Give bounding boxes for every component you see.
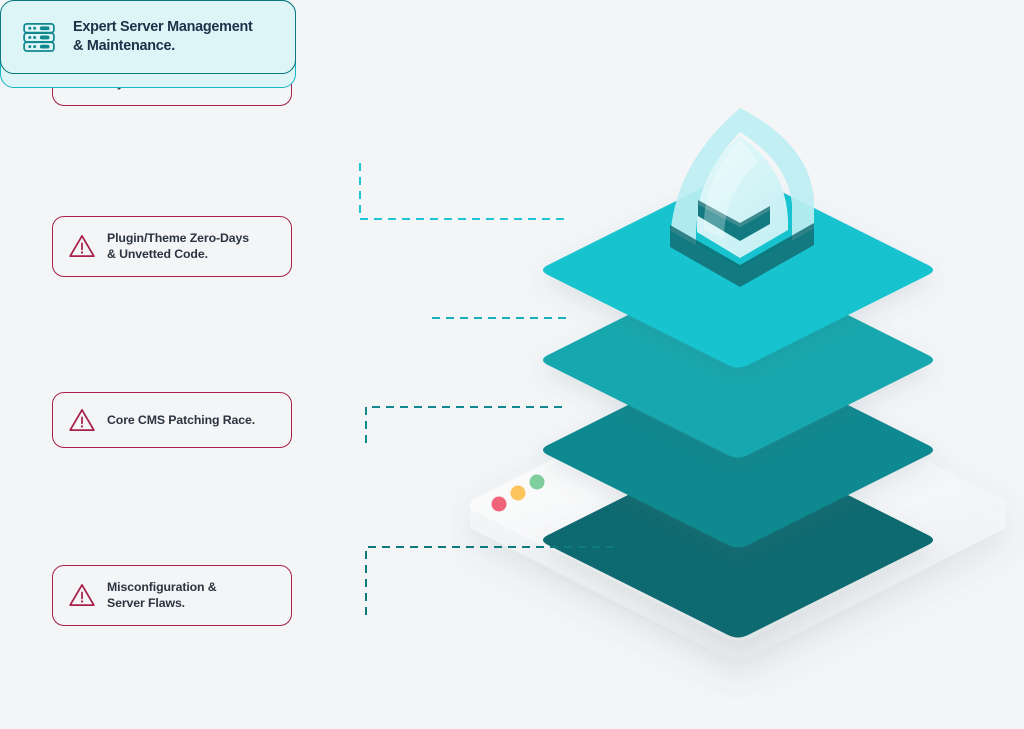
threat-card-3[interactable]: Core CMS Patching Race. bbox=[52, 392, 292, 448]
dot-yellow-icon bbox=[511, 486, 526, 501]
infographic-canvas: DDoS & Application layer threats. Global… bbox=[0, 0, 1024, 729]
warning-triangle-icon bbox=[68, 232, 96, 260]
dot-green-icon bbox=[530, 475, 545, 490]
server-rack-icon bbox=[18, 16, 60, 58]
warning-triangle-icon bbox=[68, 581, 96, 609]
threat-label-3: Core CMS Patching Race. bbox=[107, 412, 255, 428]
stack-svg bbox=[452, 80, 1024, 700]
solution-card-4[interactable]: Expert Server Management & Maintenance. bbox=[0, 0, 296, 74]
threat-label-2: Plugin/Theme Zero-Days & Unvetted Code. bbox=[107, 230, 249, 263]
threat-card-2[interactable]: Plugin/Theme Zero-Days & Unvetted Code. bbox=[52, 216, 292, 277]
threat-card-4[interactable]: Misconfiguration & Server Flaws. bbox=[52, 565, 292, 626]
isometric-layer-stack bbox=[452, 80, 1024, 700]
dot-red-icon bbox=[492, 497, 507, 512]
threat-label-4: Misconfiguration & Server Flaws. bbox=[107, 579, 217, 612]
warning-triangle-icon bbox=[68, 406, 96, 434]
solution-label-4: Expert Server Management & Maintenance. bbox=[73, 18, 253, 55]
